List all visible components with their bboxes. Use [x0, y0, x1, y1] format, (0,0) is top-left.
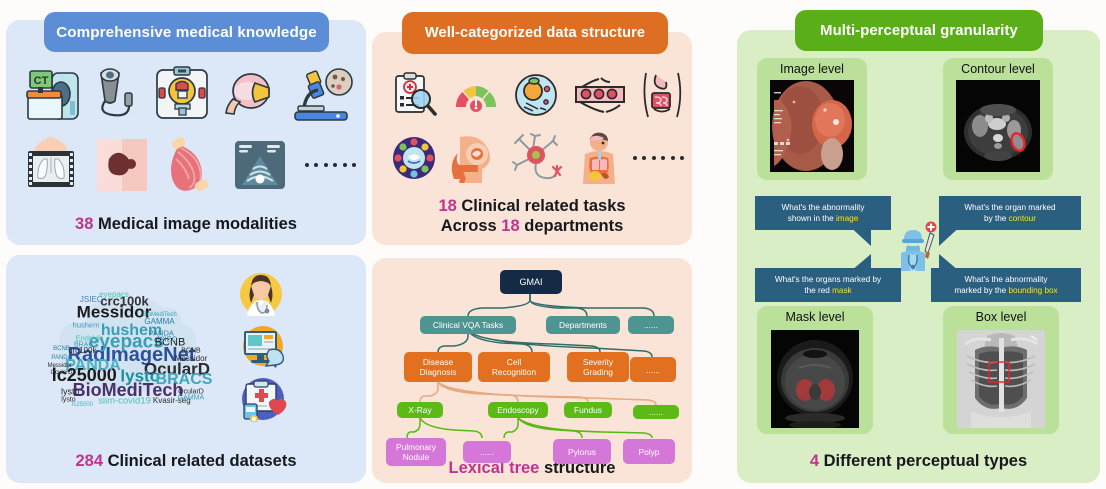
- lexical-tree-diagram: GMAI Clinical VQA Tasks Departments ....…: [372, 258, 692, 458]
- infographic-board: Comprehensive medical knowledge CT: [0, 0, 1106, 489]
- microscope-icon: [292, 66, 354, 124]
- task-ellipsis: [633, 156, 685, 160]
- caption-number: 4: [810, 452, 819, 470]
- caption-perceptual-types: 4 Different perceptual types: [737, 452, 1100, 471]
- wordcloud-word: PANDA: [51, 355, 71, 361]
- wordcloud-word: Messidor: [48, 363, 72, 369]
- ultrasound-scan-icon: [234, 139, 286, 191]
- dataset-wordcloud: RadImageNeteyepacsMessidorBioMediTechlc2…: [44, 288, 219, 410]
- muscle-histology-icon: [165, 137, 215, 193]
- caption-number: 284: [75, 452, 103, 470]
- tree-node-xray[interactable]: X-Ray: [397, 402, 443, 418]
- caption-line-1: 18 Clinical related tasks: [372, 196, 692, 216]
- wordcloud-word: BioMediTech: [142, 312, 176, 318]
- wordcloud-word: hushem: [73, 321, 100, 329]
- card-contour-level[interactable]: Contour level: [943, 58, 1053, 180]
- bubble-text: What's the organ marked by the contour: [964, 202, 1055, 224]
- wordcloud-word: lc25000: [72, 402, 93, 408]
- doctor-with-scalpel-icon: [897, 221, 945, 276]
- caption-text: Clinical related datasets: [108, 452, 297, 470]
- caption-clinical-datasets: 284 Clinical related datasets: [6, 452, 366, 471]
- bubble-image-level: What's the abnormality shown in the imag…: [755, 196, 891, 230]
- wordcloud-word: BCNB: [53, 346, 70, 352]
- bubble-box-level: What's the abnormality marked by the bou…: [931, 268, 1081, 302]
- blood-vessel-icon: [573, 75, 627, 115]
- wordcloud-word: lysto: [61, 387, 80, 396]
- wordcloud-word: GAMMA: [144, 318, 174, 326]
- tree-node-endoscopy[interactable]: Endoscopy: [488, 402, 548, 418]
- right-column: Multi-perceptual granularity Image level: [737, 0, 1100, 489]
- modality-icon-row-1: CT: [24, 64, 354, 126]
- panel-comprehensive-medical-knowledge: [6, 20, 366, 245]
- tree-node-departments[interactable]: Departments: [546, 316, 620, 334]
- endoscopy-polyp-thumbnail: [770, 80, 854, 172]
- dermoscopy-skin-icon: [97, 139, 147, 191]
- mri-machine-icon: [154, 66, 210, 124]
- card-title: Box level: [943, 310, 1059, 324]
- ct-kidney-mask-thumbnail: [771, 330, 859, 428]
- tree-node-level4-more[interactable]: ......: [633, 405, 679, 419]
- tree-node-label: Disease Diagnosis: [420, 357, 457, 377]
- wordcloud-word: lysto: [120, 367, 160, 384]
- left-column: Comprehensive medical knowledge CT: [6, 0, 366, 489]
- task-icon-row-1: [392, 70, 682, 120]
- bubble-highlight: image: [836, 214, 858, 223]
- card-title: Image level: [757, 62, 867, 76]
- anatomy-body-icon: [579, 132, 619, 184]
- wordcloud-word: BRACS: [156, 372, 213, 388]
- tree-node-pylorus[interactable]: Pylorus: [553, 439, 611, 464]
- wordcloud-word: OcularD: [50, 370, 72, 376]
- bubble-contour-level: What's the organ marked by the contour: [939, 196, 1081, 230]
- ent-head-icon: [450, 133, 498, 183]
- bubble-highlight: contour: [1009, 214, 1036, 223]
- ultrasound-probe-icon: [93, 65, 141, 125]
- caption-line-2: Across 18 departments: [372, 216, 692, 236]
- bubble-prefix: What's the organs marked by the red: [775, 275, 881, 295]
- wordcloud-word: GAMMA: [178, 394, 204, 401]
- wordcloud-word: eyepacs: [99, 291, 129, 299]
- digestive-system-icon: [642, 71, 682, 119]
- tree-node-fundus[interactable]: Fundus: [564, 402, 612, 418]
- bubble-text: What's the abnormality shown in the imag…: [781, 202, 864, 224]
- caption-clinical-tasks: 18 Clinical related tasks Across 18 depa…: [372, 196, 692, 236]
- tree-node-label: Severity Grading: [583, 357, 613, 377]
- severity-gauge-icon: [453, 75, 499, 115]
- neuron-icon: [511, 133, 565, 183]
- bubble-highlight: mask: [832, 286, 852, 295]
- tree-node-level2-more[interactable]: ......: [628, 316, 674, 334]
- caption-prefix-across: Across: [441, 217, 497, 235]
- bubble-text: What's the abnormality marked by the bou…: [954, 274, 1057, 296]
- telemedicine-monitor-icon: [239, 324, 287, 373]
- wordcloud-word: siim-covid19: [98, 397, 151, 407]
- panel-header-label: Comprehensive medical knowledge: [56, 24, 317, 41]
- task-icon-row-2: [392, 132, 684, 184]
- cell-icon: [514, 73, 558, 117]
- card-box-level[interactable]: Box level: [943, 306, 1059, 434]
- modality-ellipsis: [305, 163, 357, 167]
- tree-node-root[interactable]: GMAI: [500, 270, 562, 294]
- panel-header-well-categorized-data-structure: Well-categorized data structure: [402, 12, 668, 54]
- tree-node-label: Cell Recognition: [492, 357, 536, 377]
- panel-header-comprehensive-medical-knowledge: Comprehensive medical knowledge: [44, 12, 329, 52]
- tree-node-polyp[interactable]: Polyp: [623, 439, 675, 464]
- caption-text-departments: departments: [524, 217, 623, 235]
- cloud-words: RadImageNeteyepacsMessidorBioMediTechlc2…: [44, 288, 219, 410]
- caption-number-tasks: 18: [438, 197, 456, 215]
- svg-text:CT: CT: [34, 75, 49, 87]
- bubble-text: What's the organs marked by the red mask: [775, 274, 881, 296]
- chest-xray-box-thumbnail: [957, 330, 1045, 428]
- card-title: Contour level: [943, 62, 1053, 76]
- microbiome-icon: [392, 136, 436, 180]
- card-image-level[interactable]: Image level: [757, 58, 867, 180]
- tree-node-level5-more[interactable]: ......: [463, 441, 511, 463]
- chest-xray-icon: [24, 137, 78, 193]
- panel-header-label: Multi-perceptual granularity: [820, 23, 1018, 39]
- tree-node-severity-grading[interactable]: Severity Grading: [567, 352, 629, 382]
- dataset-side-icons: [231, 272, 301, 427]
- caption-text: Medical image modalities: [98, 215, 297, 233]
- card-title: Mask level: [757, 310, 873, 324]
- tree-node-clinical-vqa-tasks[interactable]: Clinical VQA Tasks: [420, 316, 516, 334]
- card-mask-level[interactable]: Mask level: [757, 306, 873, 434]
- clipboard-search-icon: [392, 72, 438, 118]
- tree-node-cell-recognition[interactable]: Cell Recognition: [478, 352, 550, 382]
- modality-icon-row-2: [24, 136, 356, 194]
- bubble-mask-level: What's the organs marked by the red mask: [755, 268, 901, 302]
- fundus-eye-icon: [223, 69, 279, 121]
- panel-header-multi-perceptual-granularity: Multi-perceptual granularity: [795, 10, 1043, 51]
- caption-text: Different perceptual types: [824, 452, 1028, 470]
- tree-node-label: Pulmonary Nodule: [396, 442, 436, 462]
- mri-contour-thumbnail: [956, 80, 1040, 172]
- tree-node-disease-diagnosis[interactable]: Disease Diagnosis: [404, 352, 472, 382]
- wordcloud-word: Messidor: [175, 355, 207, 363]
- caption-number-departments: 18: [501, 217, 519, 235]
- tree-node-pulmonary-nodule[interactable]: Pulmonary Nodule: [386, 438, 446, 466]
- bubble-highlight: bounding box: [1008, 286, 1057, 295]
- caption-medical-image-modalities: 38 Medical image modalities: [6, 215, 366, 234]
- ct-scanner-icon: CT: [24, 65, 80, 125]
- panel-header-label: Well-categorized data structure: [425, 25, 645, 41]
- wordcloud-word: PANDA: [65, 358, 121, 374]
- middle-column: Well-categorized data structure: [372, 0, 692, 489]
- doctor-avatar-icon: [239, 272, 283, 321]
- caption-number: 38: [75, 215, 93, 233]
- wordcloud-word: EndoVis: [76, 334, 104, 342]
- caption-text-tasks: Clinical related tasks: [461, 197, 625, 215]
- medical-record-icon: [239, 376, 287, 427]
- wordcloud-word: JSIEC: [156, 335, 177, 343]
- wordcloud-word: crc100k: [68, 347, 96, 355]
- tree-node-level3-more[interactable]: ......: [630, 357, 676, 382]
